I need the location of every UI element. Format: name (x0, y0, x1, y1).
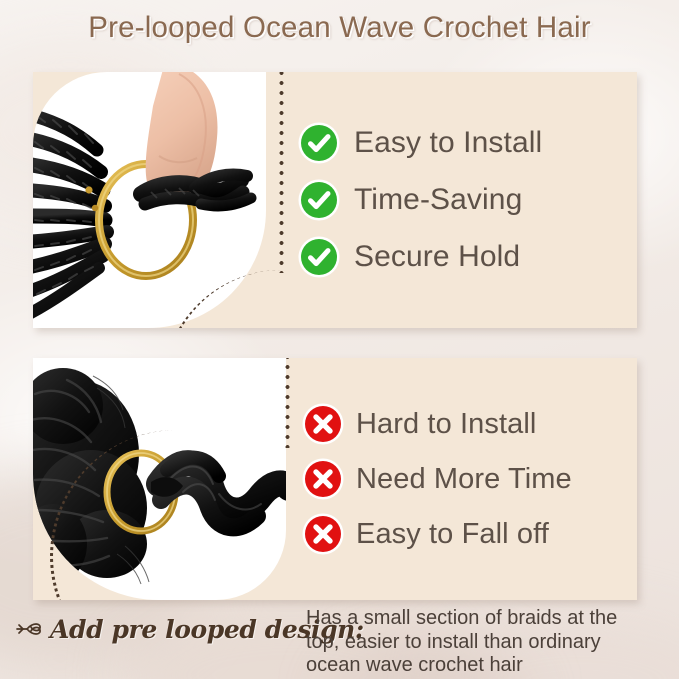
list-item: Hard to Install (305, 406, 637, 442)
caption-body-line: ocean wave crochet hair (306, 654, 666, 678)
caption-body-line: top, easier to install than ordinary (306, 631, 666, 655)
x-circle-icon (305, 406, 341, 442)
crochet-hair-illustration (33, 72, 266, 328)
panel-ordinary-drawbacks: Hard to Install Need More Time Easy to F… (33, 358, 637, 600)
x-circle-icon (305, 516, 341, 552)
caption-body-text: Has a small section of braids at the top… (306, 607, 666, 678)
list-item: Easy to Fall off (305, 516, 637, 552)
list-item-label: Easy to Fall off (356, 518, 549, 551)
list-item: Secure Hold (301, 239, 637, 275)
ocean-wave-hair-illustration (33, 358, 286, 600)
dotted-divider (285, 358, 290, 448)
infographic-page: Pre-looped Ocean Wave Crochet Hair (0, 0, 679, 679)
x-circle-icon (305, 461, 341, 497)
list-item: Time-Saving (301, 182, 637, 218)
list-item: Easy to Install (301, 125, 637, 161)
list-item: Need More Time (305, 461, 637, 497)
list-item-label: Easy to Install (354, 126, 542, 160)
check-circle-icon (301, 125, 337, 161)
ordinary-crochet-hair-photo (33, 358, 286, 600)
list-item-label: Secure Hold (354, 240, 520, 274)
list-item-label: Need More Time (356, 463, 572, 496)
benefits-list: Easy to Install Time-Saving Secure Hold (301, 72, 637, 328)
ornamental-flourish-icon (14, 614, 44, 644)
page-title: Pre-looped Ocean Wave Crochet Hair (0, 11, 679, 45)
caption-body-line: Has a small section of braids at the (306, 607, 666, 631)
list-item-label: Time-Saving (354, 183, 522, 217)
check-circle-icon (301, 182, 337, 218)
list-item-label: Hard to Install (356, 408, 536, 441)
dotted-divider (279, 72, 284, 273)
caption-area: Add pre looped design: Has a small secti… (0, 604, 679, 679)
panel-pre-looped-benefits: Easy to Install Time-Saving Secure Hold (33, 72, 637, 328)
pre-looped-crochet-hair-with-finger-photo (33, 72, 266, 328)
drawbacks-list: Hard to Install Need More Time Easy to F… (305, 358, 637, 600)
check-circle-icon (301, 239, 337, 275)
